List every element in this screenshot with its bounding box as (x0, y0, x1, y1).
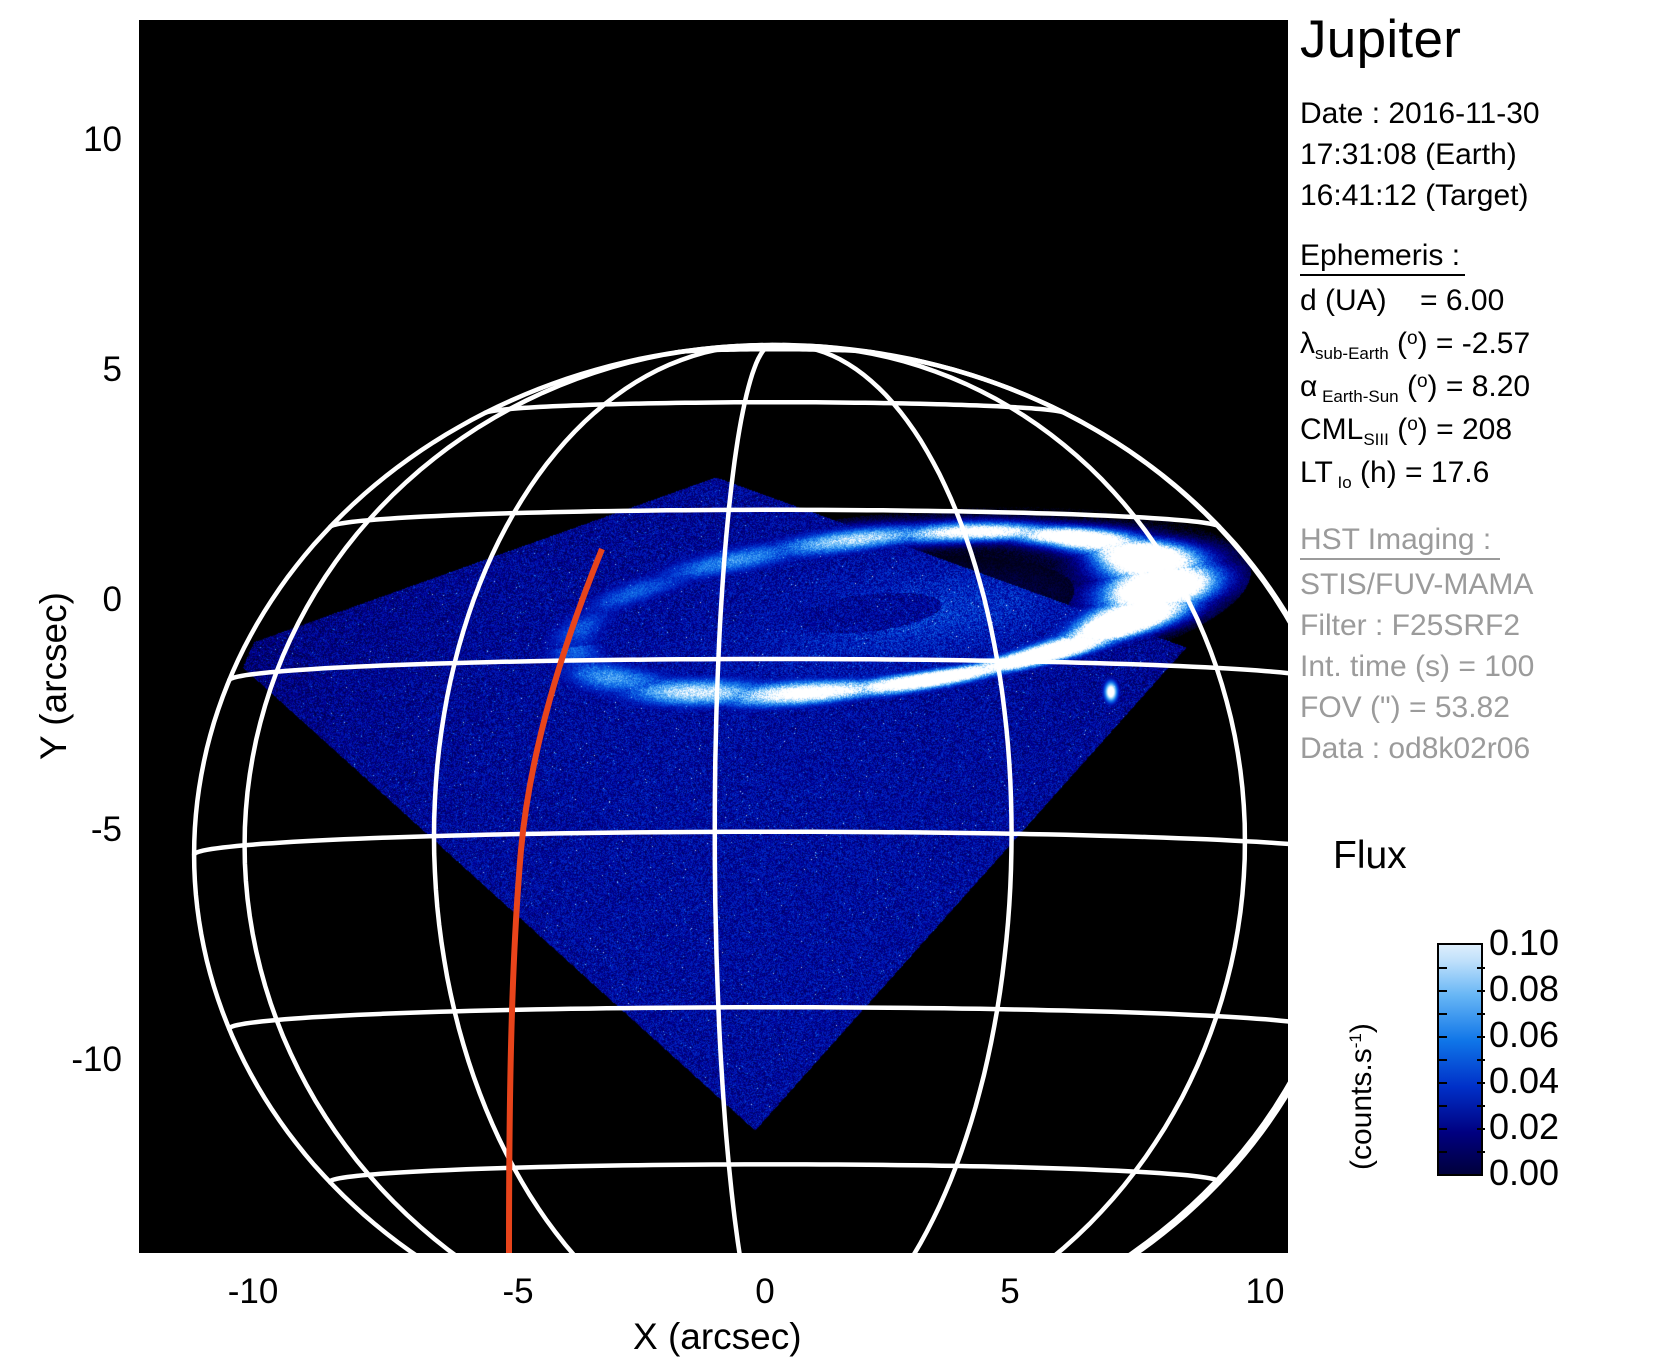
value-lambda: -2.57 (1462, 327, 1530, 360)
colorbar-tick-010: 0.10 (1489, 925, 1559, 961)
colorbar-tick-004: 0.04 (1489, 1063, 1559, 1099)
target-title: Jupiter (1300, 13, 1461, 66)
y-tick-minus5: -5 (42, 810, 122, 850)
observation-date: Date : 2016-11-30 (1300, 99, 1540, 129)
planetocentric-grid (194, 345, 1288, 1253)
sub-io: Io (1333, 473, 1352, 492)
ephemeris-row-distance: d (UA) = 6.00 (1300, 286, 1504, 316)
colorbar-tick-002: 0.02 (1489, 1109, 1559, 1145)
hst-imaging-underline (1300, 558, 1500, 560)
y-axis-title: Y (arcsec) (33, 592, 75, 760)
y-tick-minus10: -10 (32, 1040, 122, 1080)
ephemeris-heading: Ephemeris : (1300, 241, 1460, 271)
value-alpha: 8.20 (1472, 370, 1530, 403)
flux-colorbar (1437, 943, 1483, 1176)
hst-imaging-heading: HST Imaging : (1300, 525, 1491, 555)
y-tick-10: 10 (62, 120, 122, 160)
ephemeris-row-lambda: λsub-Earth (o) = -2.57 (1300, 329, 1530, 363)
ephemeris-underline (1300, 274, 1465, 276)
hst-filter: Filter : F25SRF2 (1300, 611, 1520, 641)
colorbar-tick-008: 0.08 (1489, 971, 1559, 1007)
grid-and-track-overlay (139, 20, 1288, 1253)
sub-earth-sun: Earth-Sun (1317, 387, 1398, 406)
x-tick-5: 5 (960, 1272, 1060, 1312)
sub-siii: SIII (1363, 430, 1389, 449)
hst-instrument: STIS/FUV-MAMA (1300, 570, 1533, 600)
unit-exponent: -1 (1346, 1033, 1365, 1048)
value-cml: 208 (1462, 413, 1512, 446)
colorbar-unit-label: (counts.s-1) (1345, 1023, 1379, 1170)
x-tick-minus5: -5 (468, 1272, 568, 1312)
colorbar-tick-006: 0.06 (1489, 1017, 1559, 1053)
x-tick-0: 0 (715, 1272, 815, 1312)
y-tick-5: 5 (62, 350, 122, 390)
aurora-image-plot (139, 20, 1288, 1253)
value-d-ua: 6.00 (1446, 284, 1504, 317)
x-tick-minus10: -10 (203, 1272, 303, 1312)
target-time: 16:41:12 (Target) (1300, 181, 1528, 211)
colorbar-tick-000: 0.00 (1489, 1155, 1559, 1191)
ephemeris-row-alpha: α Earth-Sun (o) = 8.20 (1300, 372, 1530, 406)
earth-time: 17:31:08 (Earth) (1300, 140, 1517, 170)
hst-fov: FOV (") = 53.82 (1300, 693, 1510, 723)
hst-dataset-id: Data : od8k02r06 (1300, 734, 1530, 764)
ephemeris-row-cml: CMLSIII (o) = 208 (1300, 415, 1512, 449)
io-footprint-track-line (509, 549, 602, 1253)
ephemeris-row-lt: LT Io (h) = 17.6 (1300, 458, 1489, 492)
hst-integration-time: Int. time (s) = 100 (1300, 652, 1534, 682)
x-axis-title: X (arcsec) (633, 1316, 802, 1358)
sub-sub-earth: sub-Earth (1315, 344, 1389, 363)
value-lt-io: 17.6 (1431, 456, 1489, 489)
colorbar-title: Flux (1333, 836, 1407, 875)
y-tick-0: 0 (62, 580, 122, 620)
